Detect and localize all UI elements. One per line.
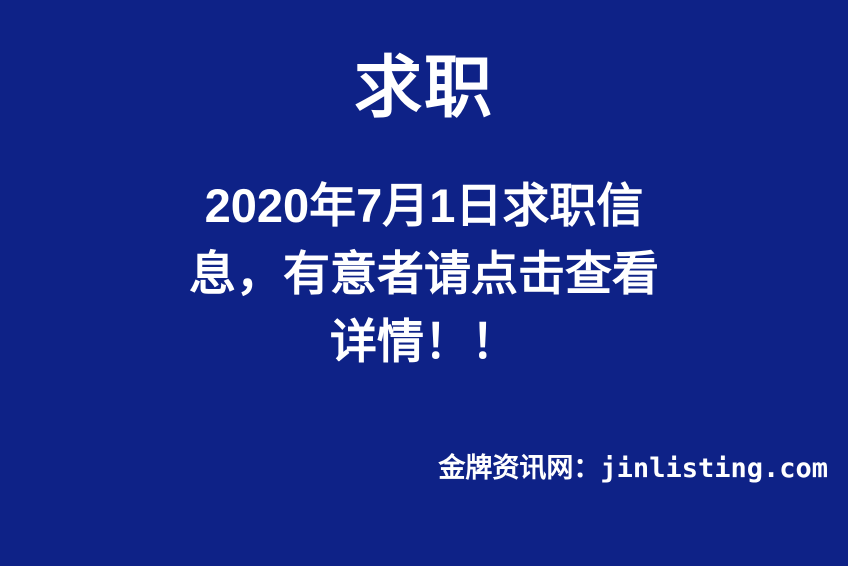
announcement-line-3: 详情！！ bbox=[0, 308, 848, 376]
site-name-label: 金牌资讯网： bbox=[438, 453, 600, 483]
job-posting-poster: 求职 2020年7月1日求职信 息，有意者请点击查看 详情！！ 金牌资讯网：ji… bbox=[0, 0, 848, 566]
site-watermark: 金牌资讯网：jinlisting.com bbox=[0, 446, 828, 485]
page-title: 求职 bbox=[0, 47, 848, 129]
announcement-text-block: 2020年7月1日求职信 息，有意者请点击查看 详情！！ bbox=[0, 172, 848, 376]
site-url-label: jinlisting.com bbox=[600, 453, 828, 484]
announcement-line-1: 2020年7月1日求职信 bbox=[0, 172, 848, 240]
announcement-line-2: 息，有意者请点击查看 bbox=[0, 240, 848, 308]
